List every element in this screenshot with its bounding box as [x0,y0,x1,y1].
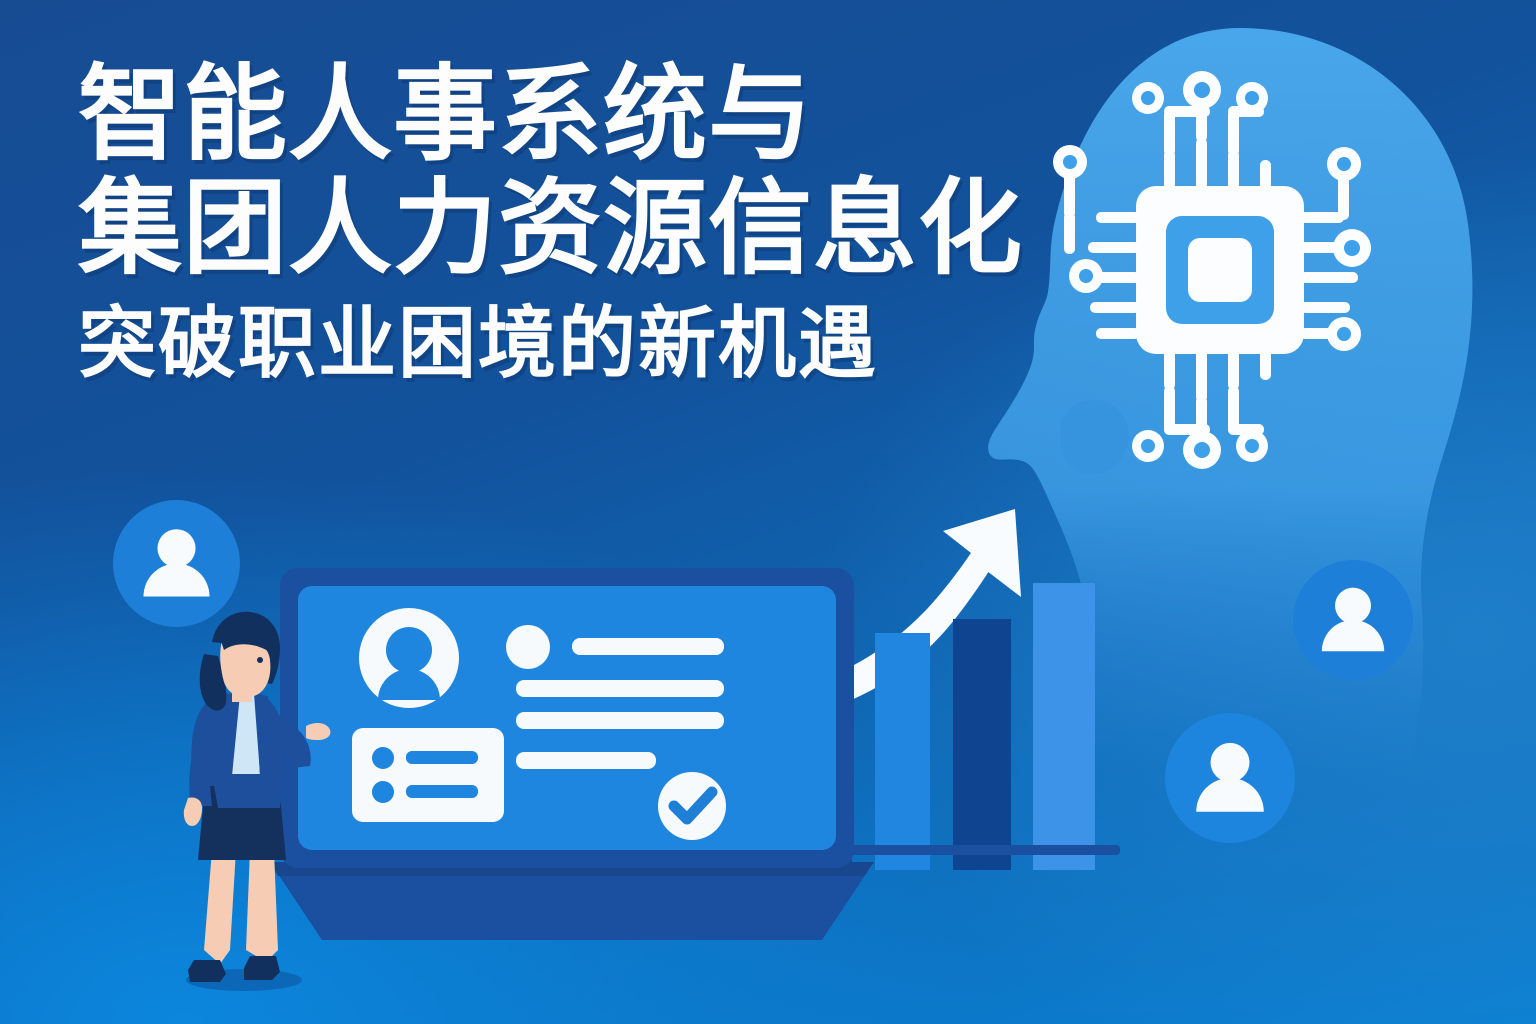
user-avatar-icon [1293,560,1413,680]
text-line-3 [516,712,724,729]
check-circle-icon [658,772,726,840]
list-card-icon [352,728,504,822]
bar-3 [953,619,1011,870]
field-dot [506,625,550,669]
title-block: 智能人事系统与 集团人力资源信息化 突破职业困境的新机遇 [78,62,1038,384]
eye [257,657,263,663]
bar-4 [1033,583,1095,870]
shoe-front [188,960,226,982]
shoe-back [244,956,280,980]
hand-down [184,797,202,826]
poster-canvas: 智能人事系统与 集团人力资源信息化 突破职业困境的新机遇 [0,0,1536,1024]
title-line-2: 集团人力资源信息化 [78,176,1038,282]
title-line-1: 智能人事系统与 [78,62,1038,168]
text-line-1 [572,638,724,655]
text-line-2 [516,680,724,697]
leg-back [246,850,278,962]
laptop-device [262,562,882,962]
text-line-4 [516,752,656,769]
leg-front [204,850,236,964]
businesswoman-pointing [168,608,348,998]
profile-avatar-glyph [359,608,459,708]
bar-2 [875,633,930,870]
subtitle: 突破职业困境的新机遇 [78,304,1038,384]
hand-pointing [306,723,330,740]
user-avatar-icon [1165,713,1295,843]
